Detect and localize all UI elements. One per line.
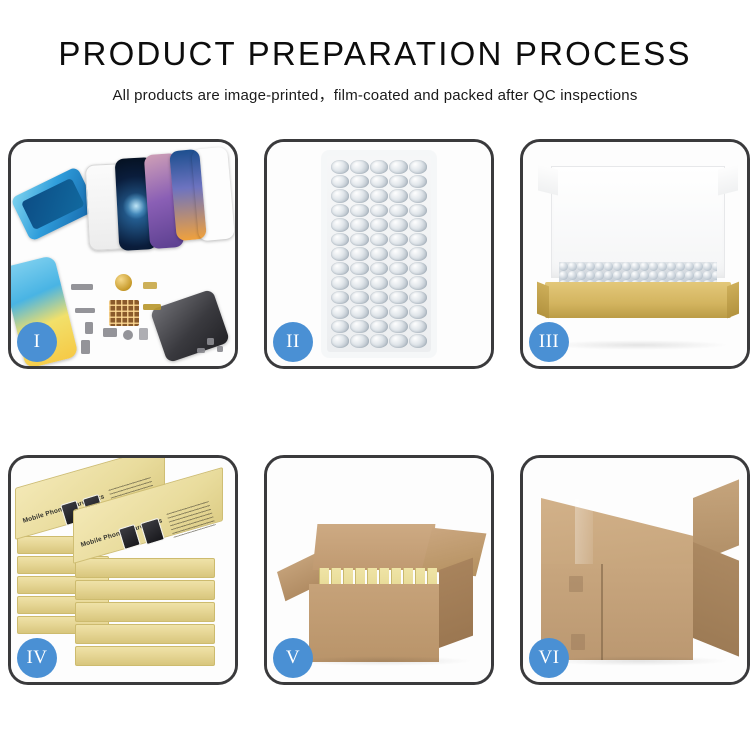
bubble — [331, 218, 349, 232]
bubble — [389, 262, 407, 276]
bubble — [568, 262, 577, 271]
bubble — [389, 204, 407, 218]
bubble — [613, 262, 622, 271]
stacked-box — [75, 580, 215, 600]
bubble — [604, 262, 613, 271]
bubble — [613, 271, 622, 280]
bubble — [409, 175, 427, 189]
part-chip — [143, 304, 161, 310]
bubble — [370, 305, 388, 319]
part-chip — [81, 340, 90, 354]
bubble — [350, 233, 368, 247]
bubble — [409, 305, 427, 319]
bubble — [409, 276, 427, 290]
bubble — [676, 262, 685, 271]
bubble — [350, 189, 368, 203]
bubble — [640, 271, 649, 280]
carton-side-panel — [439, 558, 473, 648]
bubble — [389, 320, 407, 334]
bubble — [370, 334, 388, 348]
part-chip — [217, 346, 223, 352]
bubble — [604, 271, 613, 280]
part-chip — [103, 328, 117, 337]
bubble — [370, 320, 388, 334]
bubble — [622, 271, 631, 280]
bubble — [658, 271, 667, 280]
process-step-4: Mobile Phone Spare Parts Mobile Phone Sp… — [8, 455, 238, 685]
bubble — [350, 262, 368, 276]
kraft-inner-box — [545, 282, 731, 318]
bubble — [631, 271, 640, 280]
bubble — [350, 276, 368, 290]
bubble — [409, 189, 427, 203]
bubble — [389, 247, 407, 261]
bubble — [631, 262, 640, 271]
bubble — [331, 262, 349, 276]
page-subtitle: All products are image-printed，film-coat… — [0, 84, 750, 105]
bubble — [658, 262, 667, 271]
bubble — [676, 271, 685, 280]
bubble — [331, 160, 349, 174]
bubble-wrap-grid — [331, 160, 427, 348]
process-step-1: I — [8, 139, 238, 369]
process-step-6: VI — [520, 455, 750, 685]
carton-front-panel — [309, 584, 439, 662]
bubble — [559, 262, 568, 271]
step-badge-3: III — [529, 322, 569, 362]
phone-display-teal — [191, 147, 235, 242]
speaker-component — [115, 274, 132, 291]
bubble — [331, 320, 349, 334]
part-chip — [197, 348, 205, 353]
bubble — [350, 291, 368, 305]
process-step-2: II — [264, 139, 494, 369]
bubble — [350, 175, 368, 189]
bubble — [712, 271, 717, 280]
drop-shadow — [549, 340, 729, 350]
part-chip — [143, 282, 157, 289]
bubble — [685, 271, 694, 280]
drop-shadow — [549, 656, 729, 666]
step-badge-5: V — [273, 638, 313, 678]
bubble — [389, 233, 407, 247]
stacked-box — [75, 602, 215, 622]
bubble — [703, 271, 712, 280]
bubble — [694, 271, 703, 280]
bubble — [389, 291, 407, 305]
bubble — [350, 320, 368, 334]
bubble — [389, 305, 407, 319]
bubble — [331, 305, 349, 319]
part-chip — [71, 284, 93, 290]
bubble — [649, 262, 658, 271]
step-badge-1: I — [17, 322, 57, 362]
bubble — [409, 291, 427, 305]
bubble — [389, 160, 407, 174]
carton-hand-hole — [569, 576, 583, 592]
bubble — [389, 334, 407, 348]
bubble — [409, 247, 427, 261]
carton-flap-back — [313, 524, 436, 570]
process-step-grid: I II III — [8, 139, 745, 685]
bubble — [595, 271, 604, 280]
bubble — [667, 262, 676, 271]
bubble — [331, 204, 349, 218]
bubble — [350, 218, 368, 232]
bubble-wrap-pouch — [327, 156, 431, 352]
step-badge-4: IV — [17, 638, 57, 678]
bubble — [409, 160, 427, 174]
part-chip — [139, 328, 148, 340]
bubble — [350, 204, 368, 218]
bubble — [350, 160, 368, 174]
bubble — [409, 262, 427, 276]
bubble — [350, 247, 368, 261]
bubble — [649, 271, 658, 280]
bubble — [409, 233, 427, 247]
bubble — [667, 271, 676, 280]
page-title: PRODUCT PREPARATION PROCESS — [0, 36, 750, 72]
bubble — [331, 291, 349, 305]
carton-hand-hole — [571, 634, 585, 650]
bubble — [331, 233, 349, 247]
bubble — [694, 262, 703, 271]
process-step-5: V — [264, 455, 494, 685]
bubble — [370, 175, 388, 189]
bubble — [703, 262, 712, 271]
bubble — [331, 247, 349, 261]
bubble — [389, 175, 407, 189]
bubble — [409, 320, 427, 334]
carton-side-panel — [693, 542, 739, 657]
bubble — [586, 262, 595, 271]
part-chip — [75, 308, 95, 313]
header: PRODUCT PREPARATION PROCESS All products… — [0, 0, 750, 105]
part-chip — [85, 322, 93, 334]
carton-seam — [601, 564, 603, 660]
phone-back-housing — [150, 289, 231, 363]
bubble — [370, 160, 388, 174]
bubble — [350, 334, 368, 348]
bubble — [577, 271, 586, 280]
stacked-box — [75, 646, 215, 666]
bubble — [389, 189, 407, 203]
drop-shadow — [293, 656, 473, 666]
bubble — [559, 271, 568, 280]
bubble — [370, 276, 388, 290]
bubble — [331, 189, 349, 203]
part-chip — [207, 338, 214, 345]
bubble — [370, 218, 388, 232]
bubble — [370, 262, 388, 276]
bubble — [331, 175, 349, 189]
bubble — [622, 262, 631, 271]
product-preparation-infographic: PRODUCT PREPARATION PROCESS All products… — [0, 0, 750, 750]
logic-board-component — [109, 300, 139, 326]
bubble — [370, 189, 388, 203]
stacked-box — [75, 558, 215, 578]
bubble — [640, 262, 649, 271]
bubble — [331, 334, 349, 348]
stacked-box — [75, 624, 215, 644]
step-badge-2: II — [273, 322, 313, 362]
part-chip — [123, 330, 133, 340]
bubble — [350, 305, 368, 319]
bubble — [331, 276, 349, 290]
process-step-3: III — [520, 139, 750, 369]
bubble — [712, 262, 717, 271]
bubble — [586, 271, 595, 280]
bubble — [568, 271, 577, 280]
bubble — [595, 262, 604, 271]
bubble — [409, 218, 427, 232]
bubble — [577, 262, 586, 271]
bubble — [409, 204, 427, 218]
bubble — [389, 218, 407, 232]
bubble — [370, 204, 388, 218]
bubble — [370, 233, 388, 247]
bubble — [409, 334, 427, 348]
bubble — [389, 276, 407, 290]
bubble — [685, 262, 694, 271]
step-badge-6: VI — [529, 638, 569, 678]
bubble — [370, 291, 388, 305]
bubble — [370, 247, 388, 261]
